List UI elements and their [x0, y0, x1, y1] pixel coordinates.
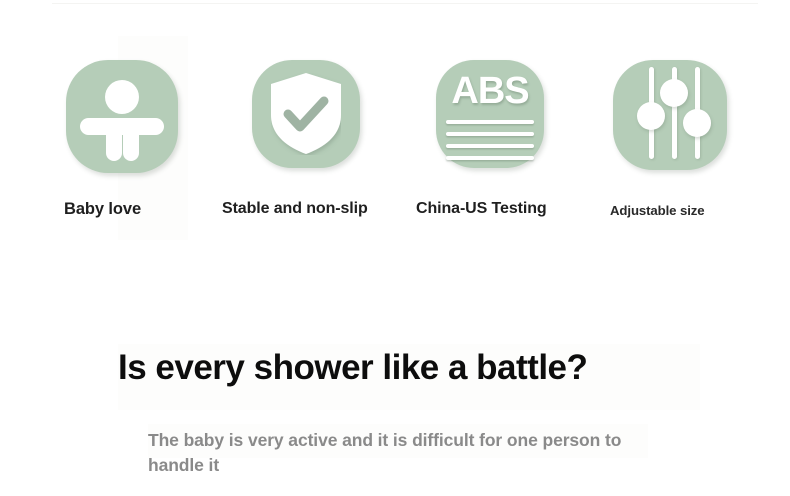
feature-item-adjustable-size: Adjustable size: [613, 60, 727, 170]
abs-material-icon-text: ABS: [436, 72, 544, 110]
baby-figure-icon: [66, 60, 178, 173]
abs-material-icon: ABS: [436, 60, 544, 168]
baby-figure-leg-left: [106, 122, 122, 161]
feature-tile: [252, 60, 360, 168]
baby-figure-head: [105, 80, 139, 114]
feature-label-stable-non-slip: Stable and non-slip: [222, 200, 368, 218]
feature-label-china-us-testing: China-US Testing: [416, 200, 547, 218]
feature-label-baby-love: Baby love: [64, 200, 141, 219]
abs-material-icon-line: [446, 156, 534, 160]
page-subheadline: The baby is very active and it is diffic…: [148, 428, 648, 478]
slider-knob: [683, 109, 711, 137]
feature-item-china-us-testing: ABS China-US Testing: [436, 60, 544, 168]
shield-check-icon: [252, 60, 360, 168]
feature-label-adjustable-size: Adjustable size: [610, 203, 705, 218]
slider-adjust-icon: [613, 60, 727, 170]
abs-material-icon-line: [446, 132, 534, 136]
slider-knob: [637, 102, 665, 130]
product-feature-page: { "theme": { "tile_green": "#b5cdb8", "i…: [0, 0, 790, 496]
top-divider: [52, 3, 758, 4]
baby-figure-arms: [80, 118, 164, 135]
feature-tile: [613, 60, 727, 170]
abs-material-icon-line: [446, 144, 534, 148]
feature-row: Baby love Stable and non-slip: [0, 60, 790, 240]
baby-figure-leg-right: [123, 122, 139, 161]
abs-material-icon-line: [446, 120, 534, 124]
feature-item-stable-non-slip: Stable and non-slip: [252, 60, 360, 168]
slider-knob: [660, 79, 688, 107]
page-headline: Is every shower like a battle?: [118, 348, 738, 388]
feature-tile: ABS: [436, 60, 544, 168]
feature-tile: [66, 60, 178, 173]
feature-item-baby-love: Baby love: [66, 60, 178, 173]
